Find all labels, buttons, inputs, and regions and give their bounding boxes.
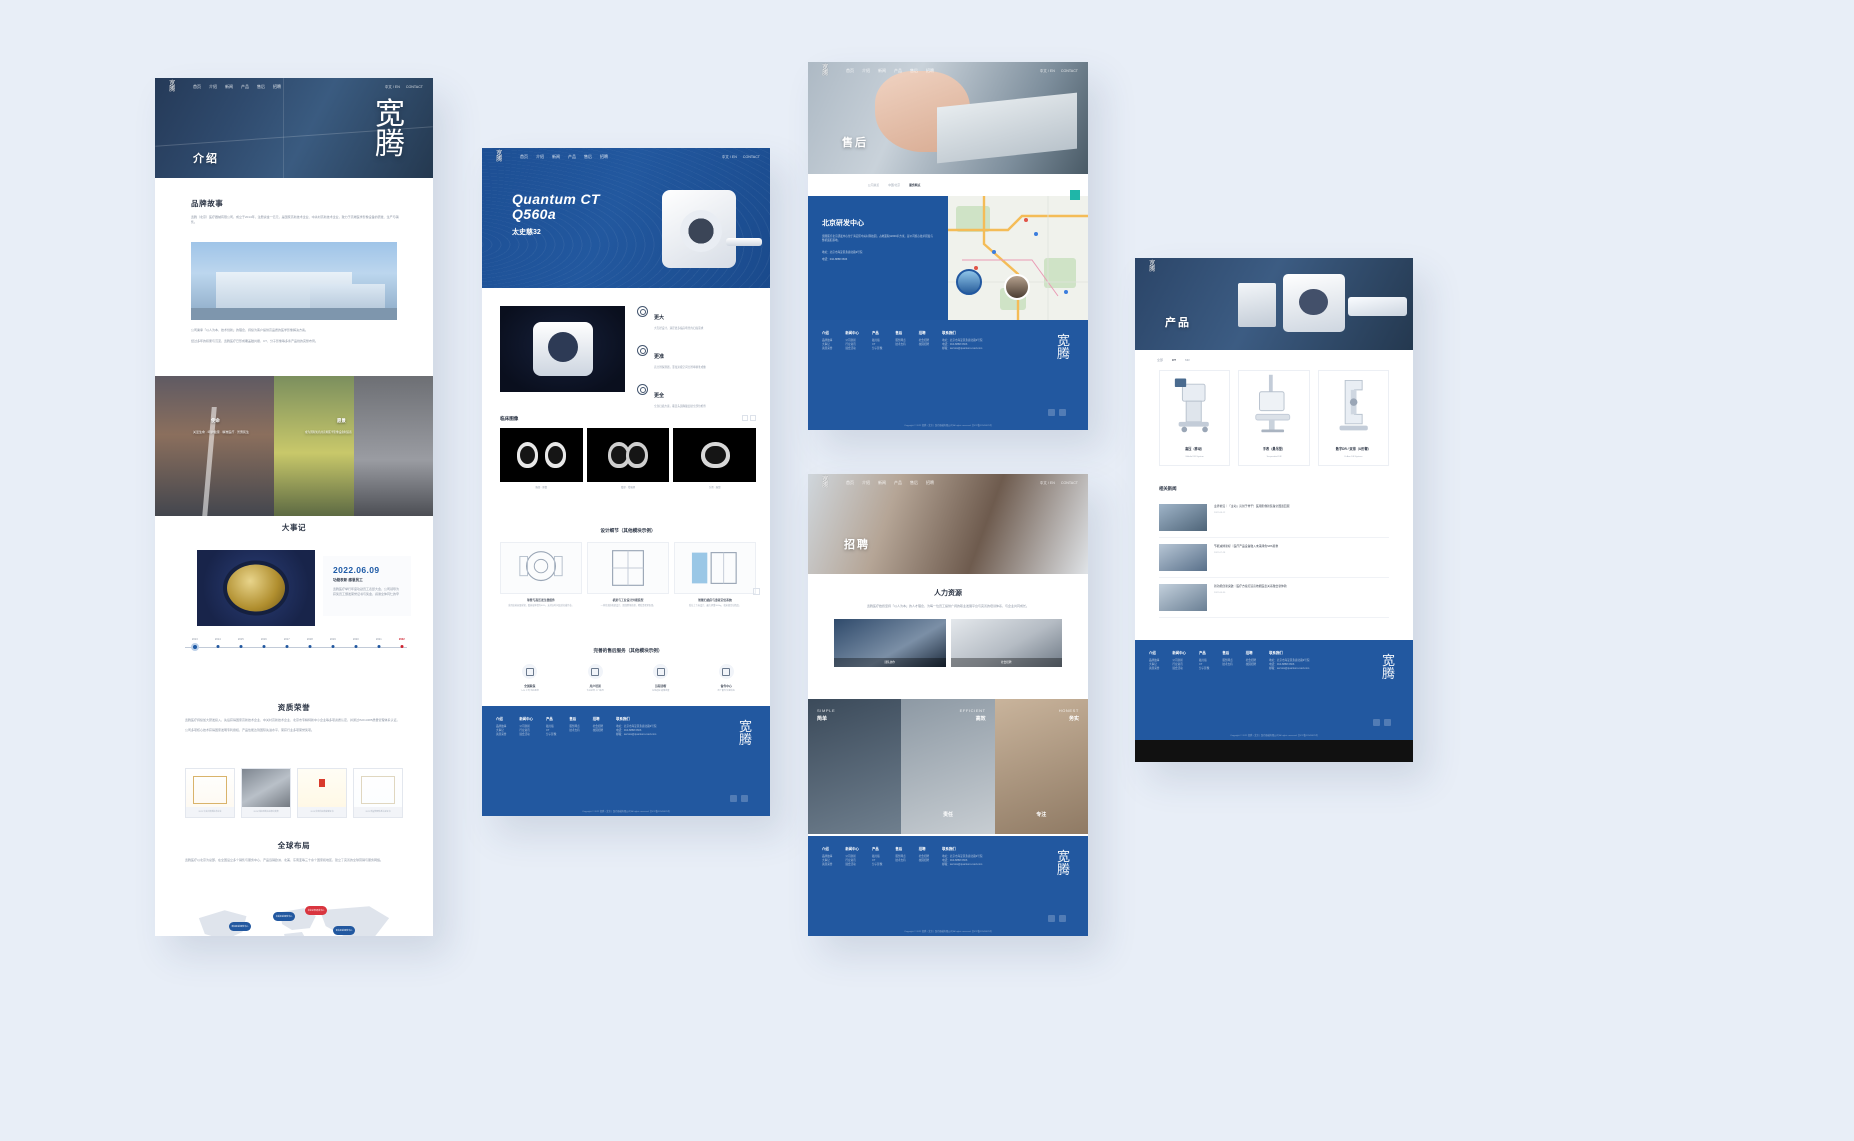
honor-card[interactable]: 2021 质量管理体系认证证书 <box>353 768 403 818</box>
footer-link[interactable]: 校园招聘 <box>919 859 929 863</box>
tab-ct[interactable]: CT <box>1172 358 1176 362</box>
mission-label: 使命 <box>211 418 220 424</box>
design-card-title: 球管与高压发生器组件 <box>500 598 582 602</box>
global-node[interactable]: 欧洲区域 服务中心 <box>229 922 251 931</box>
product-hero-text: Quantum CT Q560a 太史慈32 <box>512 192 600 237</box>
weibo-icon[interactable] <box>1059 915 1066 922</box>
clinical-caption: 头颅 · 脑窗 <box>673 485 756 489</box>
footer-copyright: Copyright © 2022 宽腾（北京）医疗器械有限公司 All righ… <box>808 423 1088 427</box>
product-card[interactable]: 高压（移动） Mobile DR System <box>1159 370 1230 466</box>
global-node[interactable]: 北美区域 服务中心 <box>273 912 295 921</box>
service-title: 完善的售后服务（其他模块示例） <box>500 648 756 654</box>
footer-email: 邮箱：service@quantum-med.com <box>942 347 982 351</box>
feature-desc: 大孔径设计，满足更多临床场景的扫描需求 <box>654 327 703 331</box>
design-card[interactable]: 机架与工业设计外观造型 一体化流线机架设计，圆润倒角处理，降低患者紧张感。 <box>587 542 669 608</box>
footer-link[interactable]: 校园招聘 <box>1246 663 1256 667</box>
footer-brand-logo: 宽 腾 <box>1057 850 1070 876</box>
page4-navbar[interactable]: 宽 腾 首页 介绍 新闻 产品 售后 招聘 中文 / EN CONTACT <box>808 474 1088 492</box>
footer-column-contact: 联系我们地址：北京市海淀区永捷北路9号院电话：010-8888 6666邮箱：s… <box>942 846 982 868</box>
weibo-icon[interactable] <box>1384 719 1391 726</box>
value-cn: 高效 <box>960 715 986 722</box>
nav-item-news[interactable]: 新闻 <box>225 84 233 90</box>
footer-link[interactable]: 技术支持 <box>895 859 905 863</box>
service-item-desc: 专业技师 上门指导 <box>566 690 626 693</box>
honor-card[interactable]: 2020 科技创新先进单位奖牌 <box>241 768 291 818</box>
news-item-title: 业界前沿｜「主动」亮剑于骨干！医用影像新装备全国巡回展 <box>1214 504 1290 508</box>
footer-link[interactable]: 展会活动 <box>845 347 859 351</box>
nav-item-home[interactable]: 首页 <box>846 480 854 486</box>
footer-social[interactable] <box>1048 409 1066 416</box>
clinical-image[interactable] <box>587 428 670 482</box>
hr-images: 团队协作 社会招聘 <box>834 619 1062 667</box>
rnd-center-panel: 北京研发中心 宽腾医疗北京研发中心位于海淀区中关村科技园，占地面积12000平方… <box>808 196 948 321</box>
hr-image[interactable]: 团队协作 <box>834 619 946 667</box>
breadcrumb-item[interactable]: 中国/北京 <box>888 183 900 187</box>
map-corner-badge[interactable] <box>1070 190 1080 200</box>
timeline-year[interactable]: 2020 <box>353 638 359 641</box>
nav-item-home[interactable]: 首页 <box>846 68 854 74</box>
milestone-date: 2022.06.09 <box>333 565 401 575</box>
news-row[interactable]: 新功能创新突破｜医疗方案打造高效能医患关系融合新体验 2022-06-30 <box>1159 578 1389 618</box>
news-thumb <box>1159 504 1207 531</box>
values-section: SIMPLE 简单 EFFICIENT 高效 责任 HONEST 务实 专注 <box>808 699 1088 834</box>
nav-right[interactable]: 中文 / EN CONTACT <box>385 85 423 90</box>
tab-all[interactable]: 全部 <box>1157 358 1163 362</box>
service-item-title: 备件中心 <box>697 684 757 688</box>
nav-right[interactable]: 中文 / EN CONTACT <box>1040 69 1078 74</box>
product-sub: U-Arm DR System <box>1319 456 1388 458</box>
footer-link[interactable]: 资质荣誉 <box>496 733 506 737</box>
nav-item-about[interactable]: 介绍 <box>862 68 870 74</box>
value-en: HONEST <box>1059 708 1079 713</box>
clinical-arrows[interactable] <box>742 415 756 421</box>
milestone-timeline[interactable]: 2013 2014 2015 2016 2017 2018 2019 2020 … <box>181 638 411 652</box>
page5-navbar[interactable]: 宽 腾 <box>1135 258 1413 276</box>
service-section: 完善的售后服务（其他模块示例） 全国联保 7×24 小时 响应服务 用户培训 专… <box>500 648 756 693</box>
news-item-title: 节能减排新标｜医疗产品设备融入未来绿色SPA篇章 <box>1214 544 1278 548</box>
feature-desc: 高分辨探测器，亚毫米级空间分辨率精准成像 <box>654 366 706 370</box>
lang-switch[interactable]: 中文 / EN <box>1040 481 1055 486</box>
lang-switch[interactable]: 中文 / EN <box>1040 69 1055 74</box>
page2-navbar[interactable]: 宽 腾 首页 介绍 新闻 产品 售后 招聘 中文 / EN CONTACT <box>482 148 770 166</box>
vision-desc: 成为国际知名的高端医学影像设备制造商 <box>305 430 425 434</box>
weibo-icon[interactable] <box>1059 409 1066 416</box>
footer-link[interactable]: 校园招聘 <box>593 729 603 733</box>
design-card[interactable]: 智能扫描床与患者定位系统 低位上下床设计，最大承重300kg，毫米级定位精度。 <box>674 542 756 608</box>
footer-email: 邮箱：service@quantum-med.com <box>1269 667 1309 671</box>
footer-columns: 介绍品牌故事大事记资质荣誉 新闻中心公司新闻行业资讯展会活动 产品磁共振CT分子… <box>808 836 1088 872</box>
nav-item-careers[interactable]: 招聘 <box>273 84 281 90</box>
contact-link[interactable]: CONTACT <box>1061 69 1078 74</box>
design-row: 球管与高压发生器组件 采用高热容量球管，散热效率提升40%，支持长时间连续扫描作… <box>500 542 756 608</box>
nav-item-news[interactable]: 新闻 <box>878 68 886 74</box>
value-bottom: 责任 <box>943 811 953 818</box>
product-subtitle: 太史慈32 <box>512 227 600 237</box>
rnd-desc: 宽腾医疗北京研发中心位于海淀区中关村科技园，占地面积12000平方米，是公司核心… <box>822 235 934 243</box>
footer-column[interactable]: 新闻中心公司新闻行业资讯展会活动 <box>519 716 533 738</box>
milestone-headline: 功勋表彰 感恩员工 <box>333 578 401 583</box>
service-item[interactable]: 备件中心 原厂备件 快速供应 <box>697 664 757 693</box>
nav-item-news[interactable]: 新闻 <box>878 480 886 486</box>
vision-label: 愿景 <box>337 418 346 424</box>
footer-column[interactable]: 售后服务网点技术支持 <box>895 330 905 352</box>
brand-logo-bottom: 腾 <box>169 87 175 94</box>
brand-logo[interactable]: 宽 腾 <box>818 63 832 79</box>
map-photo-marker[interactable] <box>1004 274 1030 300</box>
brand-logo[interactable]: 宽 腾 <box>165 79 179 95</box>
feature-item: 更大 大孔径设计，满足更多临床场景的扫描需求 <box>637 306 756 331</box>
footer-column[interactable]: 招聘社会招聘校园招聘 <box>919 330 929 352</box>
page1-navbar[interactable]: 宽 腾 首页 介绍 新闻 产品 售后 招聘 中文 / EN CONTACT <box>155 78 433 96</box>
feature-title: 更准 <box>654 354 664 360</box>
nav-item-service[interactable]: 售后 <box>584 154 592 160</box>
footer-brand-logo: 宽 腾 <box>1382 654 1395 680</box>
value-en: SIMPLE <box>817 708 835 713</box>
honor-cards[interactable]: 2021 中关村高新技术企业 2020 科技创新先进单位奖牌 2019 优秀供应… <box>185 768 403 818</box>
brand-story-body3: 经过多年的积累与沉淀，宽腾医疗已形成覆盖磁共振、CT、分子影像等多条产品线的完整… <box>191 339 403 344</box>
contact-link[interactable]: CONTACT <box>406 85 423 90</box>
rnd-title: 北京研发中心 <box>822 218 934 228</box>
footer-col-title: 介绍 <box>496 716 506 721</box>
footer-link[interactable]: 分子影像 <box>1199 667 1209 671</box>
footer-column[interactable]: 售后服务网点技术支持 <box>569 716 579 738</box>
weibo-icon[interactable] <box>741 795 748 802</box>
footer-col-title: 招聘 <box>593 716 603 721</box>
product-name: 手表（悬吊型） <box>1239 446 1308 451</box>
page-mockup-product-detail: 宽 腾 首页 介绍 新闻 产品 售后 招聘 中文 / EN CONTACT Qu… <box>482 148 770 816</box>
footer-col-title: 产品 <box>1199 650 1209 655</box>
news-row[interactable]: 业界前沿｜「主动」亮剑于骨干！医用影像新装备全国巡回展 2022-08-12 <box>1159 498 1389 538</box>
brand-story-title: 品牌故事 <box>191 198 403 209</box>
footer-col-title: 介绍 <box>822 846 832 851</box>
footer-columns: 介绍品牌故事大事记资质荣誉 新闻中心公司新闻行业资讯展会活动 产品磁共振CT分子… <box>808 320 1088 356</box>
nav-item-about[interactable]: 介绍 <box>209 84 217 90</box>
footer-column-contact: 联系我们地址：北京市海淀区永捷北路9号院电话：010-8888 6666邮箱：s… <box>1269 650 1309 672</box>
global-body: 宽腾医疗以北京为总部，在全国设立多个销售与服务中心，产品远销欧洲、北美、东南亚等… <box>185 858 403 863</box>
coverage-icon <box>637 384 648 395</box>
footer-link[interactable]: 展会活动 <box>845 863 859 867</box>
product-cards[interactable]: 高压（移动） Mobile DR System 手表（悬吊型） Suspende… <box>1159 370 1389 466</box>
ct-scanner-image <box>642 190 762 285</box>
footer-logo-bottom: 腾 <box>1057 347 1070 360</box>
prev-arrow-icon[interactable] <box>742 415 748 421</box>
nav-links[interactable]: 首页 介绍 新闻 产品 售后 招聘 <box>846 480 934 486</box>
footer-column[interactable]: 产品磁共振CT分子影像 <box>872 846 882 868</box>
news-title: 相关新闻 <box>1159 486 1177 492</box>
footer-column[interactable]: 售后服务网点技术支持 <box>1222 650 1232 672</box>
service-item[interactable]: 全国联保 7×24 小时 响应服务 <box>500 664 560 693</box>
design-card-title: 智能扫描床与患者定位系统 <box>674 598 756 602</box>
value-column: HONEST 务实 专注 <box>995 699 1088 834</box>
honors-title: 资质荣誉 <box>155 702 433 713</box>
design-card[interactable]: 球管与高压发生器组件 采用高热容量球管，散热效率提升40%，支持长时间连续扫描作… <box>500 542 582 608</box>
footer-col-title: 联系我们 <box>616 716 656 721</box>
footer-link[interactable]: 资质荣誉 <box>822 347 832 351</box>
footer-link[interactable]: 展会活动 <box>519 733 533 737</box>
global-body-text: 宽腾医疗以北京为总部，在全国设立多个销售与服务中心，产品远销欧洲、北美、东南亚等… <box>185 858 403 863</box>
wechat-icon[interactable] <box>1048 915 1055 922</box>
product-image <box>1319 371 1388 437</box>
footer-logo-bottom: 腾 <box>739 733 752 746</box>
brand-logo[interactable]: 宽 腾 <box>492 149 506 165</box>
nav-item-home[interactable]: 首页 <box>520 154 528 160</box>
feature-desc: 全身扫描方案，覆盖头颈胸腹四肢全部位检查 <box>654 405 706 409</box>
footer-col-title: 新闻中心 <box>1172 650 1186 655</box>
timeline-year-active[interactable]: 2022 <box>399 638 405 641</box>
brand-logo[interactable]: 宽 腾 <box>818 475 832 491</box>
news-row[interactable]: 节能减排新标｜医疗产品设备融入未来绿色SPA篇章 2022-07-28 <box>1159 538 1389 578</box>
page4-hero-title: 招聘 <box>844 536 870 552</box>
footer-social[interactable] <box>1373 719 1391 726</box>
clinical-image[interactable] <box>500 428 583 482</box>
milestone-photo <box>197 550 315 626</box>
design-card-desc: 低位上下床设计，最大承重300kg，毫米级定位精度。 <box>674 605 756 608</box>
brand-logo-bottom: 腾 <box>496 157 502 164</box>
page2-footer: 介绍品牌故事大事记资质荣誉 新闻中心公司新闻行业资讯展会活动 产品磁共振CT分子… <box>482 706 770 816</box>
value-cn: 务实 <box>1059 715 1079 722</box>
footer-link[interactable]: 校园招聘 <box>919 343 929 347</box>
footer-link[interactable]: 分子影像 <box>546 733 556 737</box>
footer-logo-bottom: 腾 <box>1382 667 1395 680</box>
training-icon <box>588 664 603 679</box>
footer-column[interactable]: 售后服务网点技术支持 <box>895 846 905 868</box>
footer-column[interactable]: 新闻中心公司新闻行业资讯展会活动 <box>1172 650 1186 672</box>
hr-image-caption: 社会招聘 <box>951 658 1063 667</box>
wechat-icon[interactable] <box>1048 409 1055 416</box>
footer-col-title: 售后 <box>895 330 905 335</box>
service-item-title: 全国联保 <box>500 684 560 688</box>
hr-section: 人力资源 宽腾医疗始终坚持「以人为本」的人才理念，为每一位员工提供广阔的职业发展… <box>808 574 1088 699</box>
medal-icon <box>227 565 285 612</box>
honor-caption: 2021 中关村高新技术企业 <box>186 807 234 817</box>
brand-story-body1: 宽腾（北京）医疗器械有限公司，成立于2014年，注册资金一亿元，是国家高新技术企… <box>191 215 403 224</box>
footer-col-title: 售后 <box>895 846 905 851</box>
honor-caption: 2019 优秀供应商荣誉证书 <box>298 807 346 817</box>
nav-item-products[interactable]: 产品 <box>568 154 576 160</box>
value-top: HONEST 务实 <box>1059 708 1079 722</box>
footer-col-title: 招聘 <box>919 846 929 851</box>
footer-column[interactable]: 介绍品牌故事大事记资质荣誉 <box>1149 650 1159 672</box>
clinical-images-section: 临床图像 胸部 · 肺窗 腹部 · 增强期 头颅 · 脑窗 <box>500 416 756 489</box>
service-item[interactable]: 用户培训 专业技师 上门指导 <box>566 664 626 693</box>
footer-column[interactable]: 招聘社会招聘校园招聘 <box>593 716 603 738</box>
footer-column[interactable]: 介绍品牌故事大事记资质荣誉 <box>822 846 832 868</box>
hr-image-caption: 团队协作 <box>834 658 946 667</box>
lang-switch[interactable]: 中文 / EN <box>722 155 737 160</box>
nav-item-products[interactable]: 产品 <box>241 84 249 90</box>
headquarters-photo <box>191 242 397 320</box>
value-column: SIMPLE 简单 <box>808 699 901 834</box>
footer-column[interactable]: 产品磁共振CT分子影像 <box>1199 650 1209 672</box>
product-tabs[interactable]: 全部 CT MR <box>1157 358 1190 362</box>
footer-link[interactable]: 资质荣誉 <box>1149 667 1159 671</box>
brand-logo-bottom: 腾 <box>822 483 828 490</box>
timeline-year[interactable]: 2013 <box>192 638 198 641</box>
timeline-year[interactable]: 2014 <box>215 638 221 641</box>
product-card[interactable]: 手表（悬吊型） Suspended DR <box>1238 370 1309 466</box>
spare-parts-icon <box>719 664 734 679</box>
nav-item-careers[interactable]: 招聘 <box>600 154 608 160</box>
nav-links[interactable]: 首页 介绍 新闻 产品 售后 招聘 <box>520 154 608 160</box>
footer-col-title: 产品 <box>872 846 882 851</box>
hr-image[interactable]: 社会招聘 <box>951 619 1063 667</box>
timeline-year[interactable]: 2016 <box>261 638 267 641</box>
honor-card[interactable]: 2019 优秀供应商荣誉证书 <box>297 768 347 818</box>
footer-copyright: Copyright © 2022 宽腾（北京）医疗器械有限公司 All righ… <box>482 809 770 813</box>
map-photo-marker[interactable] <box>956 269 982 295</box>
footer-column[interactable]: 介绍品牌故事大事记资质荣誉 <box>822 330 832 352</box>
footer-columns: 介绍品牌故事大事记资质荣誉 新闻中心公司新闻行业资讯展会活动 产品磁共振CT分子… <box>1135 640 1413 676</box>
value-cn: 简单 <box>817 715 835 722</box>
nav-item-news[interactable]: 新闻 <box>552 154 560 160</box>
footer-brand-logo: 宽 腾 <box>1057 334 1070 360</box>
footer-logo-bottom: 腾 <box>1057 863 1070 876</box>
rnd-address: 地址：北京市海淀区永捷北路9号院 <box>822 250 934 254</box>
footer-link[interactable]: 技术支持 <box>569 729 579 733</box>
lang-switch[interactable]: 中文 / EN <box>385 85 400 90</box>
footer-social[interactable] <box>730 795 748 802</box>
brand-logo-bottom: 腾 <box>1149 267 1155 274</box>
feature-title: 更全 <box>654 393 664 399</box>
value-top: SIMPLE 简单 <box>817 708 835 722</box>
footer-email: 邮箱：service@quantum-med.com <box>616 733 656 737</box>
footer-column-contact: 联系我们地址：北京市海淀区永捷北路9号院电话：010-8888 6666邮箱：s… <box>942 330 982 352</box>
news-item-date: 2022-06-30 <box>1214 592 1287 594</box>
global-node[interactable]: 亚太区域 服务中心 <box>333 926 355 935</box>
honors-body1: 宽腾医疗持续加大研发投入，先后获得国家高新技术企业、中关村高新技术企业、北京市专… <box>185 718 403 723</box>
honor-caption: 2021 质量管理体系认证证书 <box>354 807 402 817</box>
hero-mark-bottom: 腾 <box>375 130 405 160</box>
nav-item-about[interactable]: 介绍 <box>862 480 870 486</box>
product-name: 数字DR / 双排（U形臂） <box>1319 446 1388 451</box>
footer-column[interactable]: 招聘社会招聘校园招聘 <box>1246 650 1256 672</box>
footer-column[interactable]: 新闻中心公司新闻行业资讯展会活动 <box>845 330 859 352</box>
brand-story-body2: 公司秉承「以人为本、技术创新」的理念，持续为客户提供高品质的医学影像解决方案。 <box>191 328 403 333</box>
footer-link[interactable]: 资质荣誉 <box>822 863 832 867</box>
timeline-year[interactable]: 2019 <box>330 638 336 641</box>
page-mockup-about: 宽 腾 首页 介绍 新闻 产品 售后 招聘 中文 / EN CONTACT 宽 … <box>155 78 433 936</box>
news-item-date: 2022-08-12 <box>1214 512 1290 514</box>
footer-copyright: Copyright © 2022 宽腾（北京）医疗器械有限公司 All righ… <box>808 929 1088 933</box>
footer-column[interactable]: 新闻中心公司新闻行业资讯展会活动 <box>845 846 859 868</box>
timeline-year[interactable]: 2015 <box>238 638 244 641</box>
global-node-hq[interactable]: 北京总部 研发中心 <box>305 906 327 915</box>
bigger-icon <box>637 306 648 317</box>
contact-link[interactable]: CONTACT <box>743 155 760 160</box>
wechat-icon[interactable] <box>730 795 737 802</box>
product-night-image <box>500 306 625 392</box>
footer-column[interactable]: 招聘社会招聘校园招聘 <box>919 846 929 868</box>
brand-logo-bottom: 腾 <box>822 71 828 78</box>
clinical-title: 临床图像 <box>500 416 756 422</box>
footer-link[interactable]: 分子影像 <box>872 863 882 867</box>
news-list[interactable]: 业界前沿｜「主动」亮剑于骨干！医用影像新装备全国巡回展 2022-08-12 节… <box>1159 498 1389 618</box>
footer-link[interactable]: 技术支持 <box>1222 663 1232 667</box>
timeline-year[interactable]: 2017 <box>284 638 290 641</box>
footer-col-title: 产品 <box>546 716 556 721</box>
footer-column[interactable]: 产品磁共振CT分子影像 <box>872 330 882 352</box>
news-thumb <box>1159 544 1207 571</box>
nav-right[interactable]: 中文 / EN CONTACT <box>722 155 760 160</box>
design-card-desc: 采用高热容量球管，散热效率提升40%，支持长时间连续扫描作业。 <box>500 605 582 608</box>
honor-card[interactable]: 2021 中关村高新技术企业 <box>185 768 235 818</box>
product-card[interactable]: 数字DR / 双排（U形臂） U-Arm DR System <box>1318 370 1389 466</box>
service-item[interactable]: 远程诊断 在线远程 故障排查 <box>631 664 691 693</box>
footer-col-title: 产品 <box>872 330 882 335</box>
milestone-desc: 宽腾医疗举行年度功勋员工表彰大会，公司领导为获奖员工颁发荣誉证书与奖金，感谢全体… <box>333 587 401 596</box>
value-en: EFFICIENT <box>960 708 986 713</box>
clinical-row: 胸部 · 肺窗 腹部 · 增强期 头颅 · 脑窗 <box>500 428 756 489</box>
footer-col-title: 介绍 <box>822 330 832 335</box>
location-map[interactable] <box>948 196 1088 321</box>
nav-item-home[interactable]: 首页 <box>193 84 201 90</box>
news-thumb <box>1159 584 1207 611</box>
footer-brand-logo: 宽 腾 <box>739 720 752 746</box>
footer-link[interactable]: 技术支持 <box>895 343 905 347</box>
nav-item-service[interactable]: 售后 <box>910 68 918 74</box>
footer-column-contact: 联系我们地址：北京市海淀区永捷北路9号院电话：010-8888 6666邮箱：s… <box>616 716 656 738</box>
page3-navbar[interactable]: 宽 腾 首页 介绍 新闻 产品 售后 招聘 中文 / EN CONTACT <box>808 62 1088 80</box>
nav-item-careers[interactable]: 招聘 <box>926 68 934 74</box>
feature-title: 更大 <box>654 315 664 321</box>
nav-right[interactable]: 中文 / EN CONTACT <box>1040 481 1078 486</box>
nav-item-about[interactable]: 介绍 <box>536 154 544 160</box>
design-image <box>500 542 582 594</box>
brand-logo[interactable]: 宽 腾 <box>1145 259 1159 275</box>
tab-mr[interactable]: MR <box>1185 358 1190 362</box>
footer-link[interactable]: 展会活动 <box>1172 667 1186 671</box>
footer-column[interactable]: 介绍品牌故事大事记资质荣誉 <box>496 716 506 738</box>
service-item-title: 远程诊断 <box>631 684 691 688</box>
brand-story-section: 品牌故事 宽腾（北京）医疗器械有限公司，成立于2014年，注册资金一亿元，是国家… <box>191 198 403 224</box>
values-band <box>155 376 433 516</box>
breadcrumb-item[interactable]: 公司总览 <box>868 183 879 187</box>
breadcrumb[interactable]: 公司总览 中国/北京 服务网点 <box>808 174 1088 196</box>
clinical-caption: 胸部 · 肺窗 <box>500 485 583 489</box>
timeline-year[interactable]: 2018 <box>307 638 313 641</box>
precision-icon <box>637 345 648 356</box>
nav-item-service[interactable]: 售后 <box>257 84 265 90</box>
footer-column[interactable]: 产品磁共振CT分子影像 <box>546 716 556 738</box>
product-image <box>1160 371 1229 437</box>
footer-col-title: 介绍 <box>1149 650 1159 655</box>
footer-col-title: 联系我们 <box>942 846 982 851</box>
contact-link[interactable]: CONTACT <box>1061 481 1078 486</box>
design-title: 设计细节（其他模块示例） <box>500 528 756 534</box>
service-item-desc: 在线远程 故障排查 <box>631 690 691 693</box>
wechat-icon[interactable] <box>1373 719 1380 726</box>
nav-item-products[interactable]: 产品 <box>894 68 902 74</box>
footer-copyright: Copyright © 2022 宽腾（北京）医疗器械有限公司 All righ… <box>1135 733 1413 737</box>
clinical-image[interactable] <box>673 428 756 482</box>
page5-hero-title: 产品 <box>1165 314 1191 330</box>
footer-social[interactable] <box>1048 915 1066 922</box>
breadcrumb-item-active[interactable]: 服务网点 <box>909 183 920 187</box>
next-arrow-icon[interactable] <box>750 415 756 421</box>
nav-item-products[interactable]: 产品 <box>894 480 902 486</box>
nav-item-careers[interactable]: 招聘 <box>926 480 934 486</box>
nav-links[interactable]: 首页 介绍 新闻 产品 售后 招聘 <box>193 84 281 90</box>
timeline-year[interactable]: 2021 <box>376 638 382 641</box>
footer-link[interactable]: 分子影像 <box>872 347 882 351</box>
nav-item-service[interactable]: 售后 <box>910 480 918 486</box>
page3-footer: 介绍品牌故事大事记资质荣誉 新闻中心公司新闻行业资讯展会活动 产品磁共振CT分子… <box>808 320 1088 430</box>
nav-links[interactable]: 首页 介绍 新闻 产品 售后 招聘 <box>846 68 934 74</box>
footer-col-title: 联系我们 <box>1269 650 1309 655</box>
footer-email: 邮箱：service@quantum-med.com <box>942 863 982 867</box>
design-next-arrow-icon[interactable] <box>753 588 760 595</box>
footer-col-title: 售后 <box>569 716 579 721</box>
